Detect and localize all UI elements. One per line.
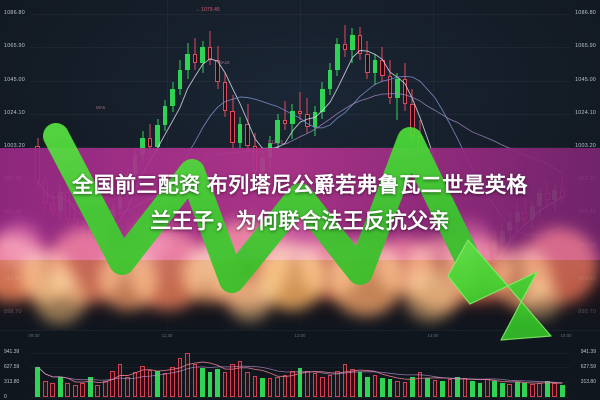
headline-text: 全国前三配资 布列塔尼公爵若弗鲁瓦二世是英格 兰王子，为何联合法王反抗父亲 [0, 168, 600, 240]
headline-line-1: 全国前三配资 布列塔尼公爵若弗鲁瓦二世是英格 [72, 174, 528, 197]
arrow-head [448, 240, 551, 340]
chart-screenshot: 1086.801065.901045.001024.101003.20982.3… [0, 0, 600, 400]
headline-line-2: 兰王子，为何联合法王反抗父亲 [0, 204, 600, 240]
